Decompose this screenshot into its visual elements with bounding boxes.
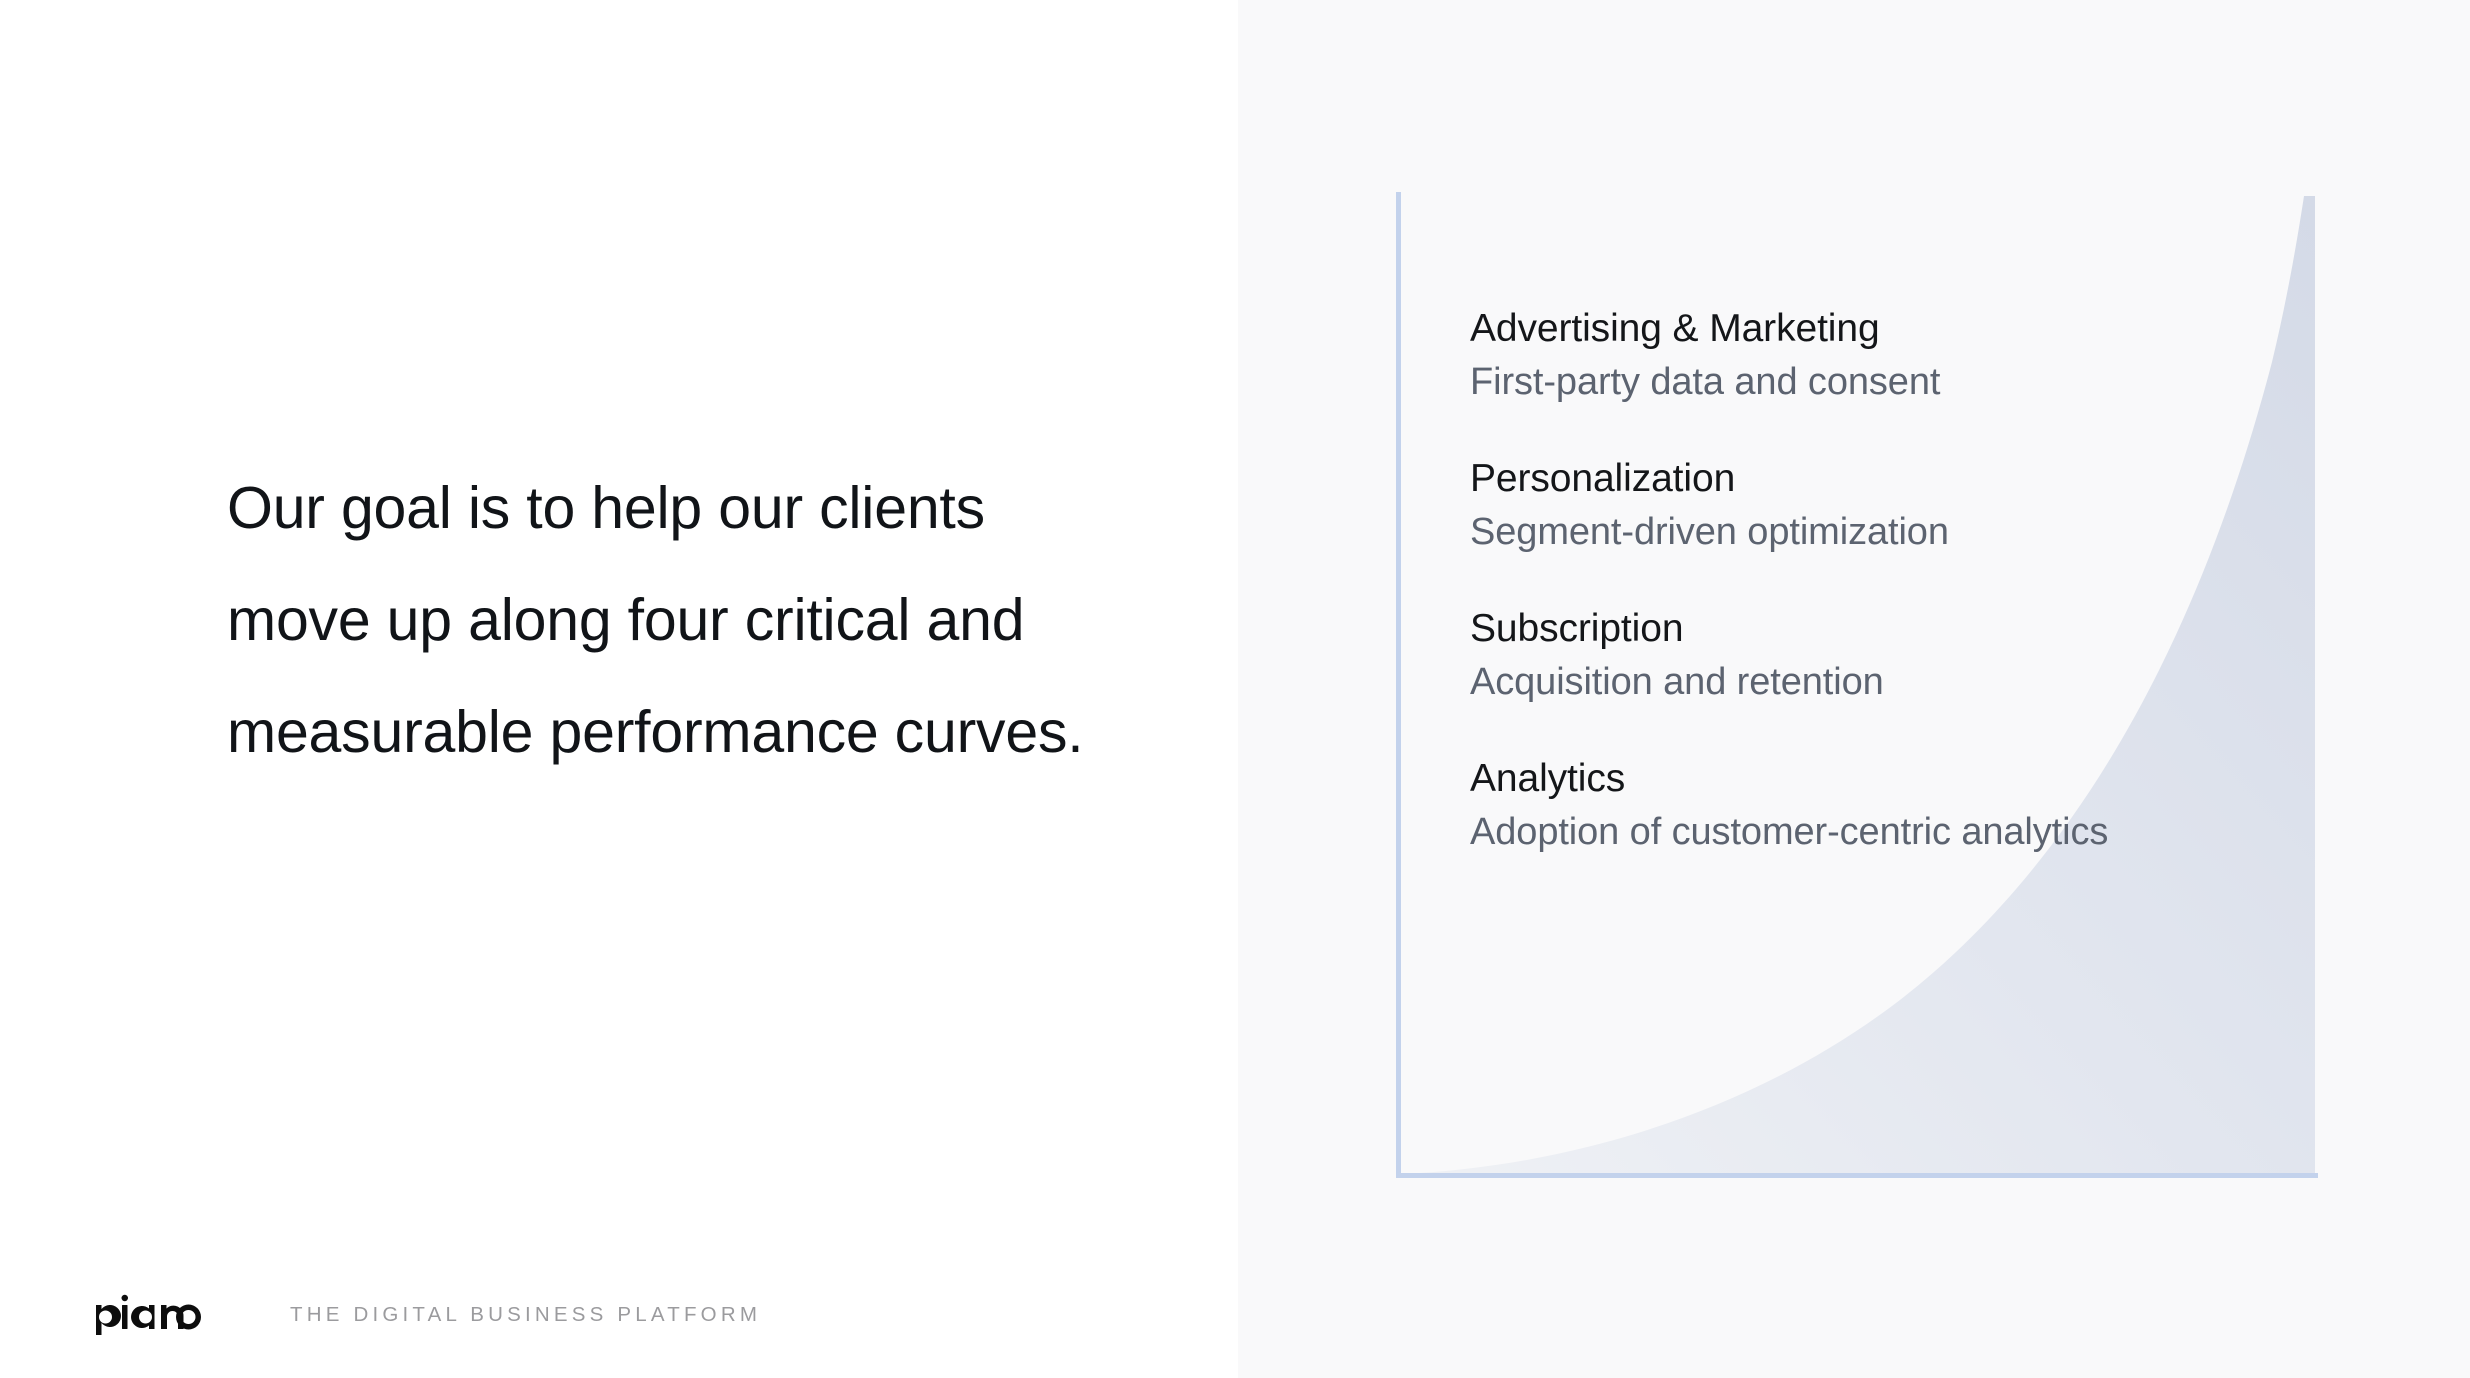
curve-item-title: Personalization [1470, 454, 2370, 503]
piano-logo-icon [94, 1293, 206, 1337]
curve-item-subscription[interactable]: Subscription Acquisition and retention [1470, 604, 2370, 708]
curve-item-title: Analytics [1470, 754, 2370, 803]
curve-item-advertising-marketing[interactable]: Advertising & Marketing First-party data… [1470, 304, 2370, 408]
curve-item-subtitle: Adoption of customer-centric analytics [1470, 806, 2370, 858]
page-title: Our goal is to help our clients move up … [227, 452, 1107, 788]
curve-item-subtitle: Acquisition and retention [1470, 656, 2370, 708]
curve-item-personalization[interactable]: Personalization Segment-driven optimizat… [1470, 454, 2370, 558]
slide-canvas: Our goal is to help our clients move up … [0, 0, 2470, 1378]
footer-tagline: THE DIGITAL BUSINESS PLATFORM [290, 1303, 761, 1327]
curve-list: Advertising & Marketing First-party data… [1470, 304, 2370, 858]
curve-item-title: Subscription [1470, 604, 2370, 653]
curve-item-subtitle: First-party data and consent [1470, 356, 2370, 408]
curve-item-subtitle: Segment-driven optimization [1470, 506, 2370, 558]
curve-item-title: Advertising & Marketing [1470, 304, 2370, 353]
footer: THE DIGITAL BUSINESS PLATFORM [94, 1288, 761, 1342]
curve-item-analytics[interactable]: Analytics Adoption of customer-centric a… [1470, 754, 2370, 858]
